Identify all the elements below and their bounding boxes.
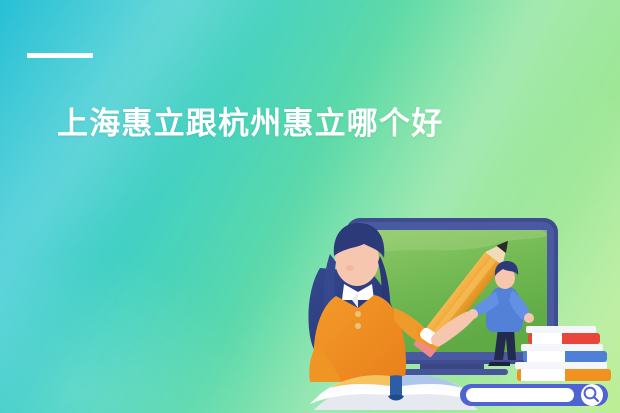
background-glow-bottom-left: [0, 248, 248, 413]
accent-dash: [27, 53, 93, 58]
search-bar: [460, 384, 608, 406]
book-stack: [515, 326, 611, 381]
education-illustration: [300, 196, 620, 413]
page-title: 上海惠立跟杭州惠立哪个好: [57, 106, 443, 142]
banner-image: 上海惠立跟杭州惠立哪个好: [0, 0, 620, 413]
